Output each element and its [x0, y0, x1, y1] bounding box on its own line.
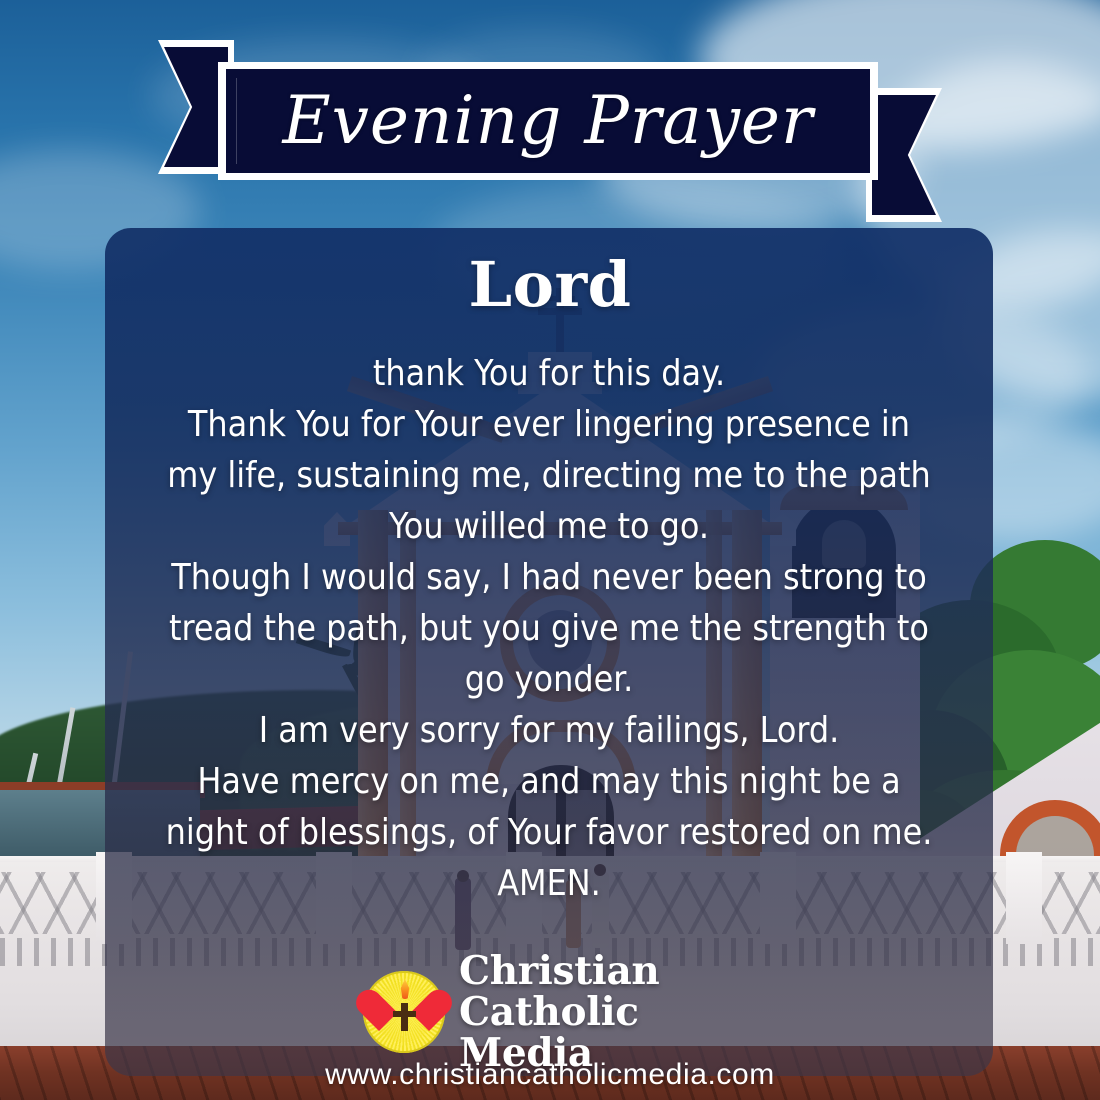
sacred-heart-seal-icon: [363, 971, 445, 1053]
banner-title: Evening Prayer: [218, 62, 878, 180]
brand-logo: Christian Catholic Media: [363, 968, 739, 1056]
website-url: www.christiancatholicmedia.com: [0, 1058, 1100, 1092]
brand-line-1: Christian: [459, 951, 739, 992]
title-banner: Evening Prayer: [150, 36, 950, 196]
brand-name: Christian Catholic Media: [459, 951, 739, 1074]
prayer-body: thank You for this day. Thank You for Yo…: [118, 348, 980, 909]
prayer-salutation: Lord: [0, 254, 1100, 316]
prayer-graphic: Evening Prayer Lord thank You for this d…: [0, 0, 1100, 1100]
cross-icon: [401, 1003, 408, 1031]
